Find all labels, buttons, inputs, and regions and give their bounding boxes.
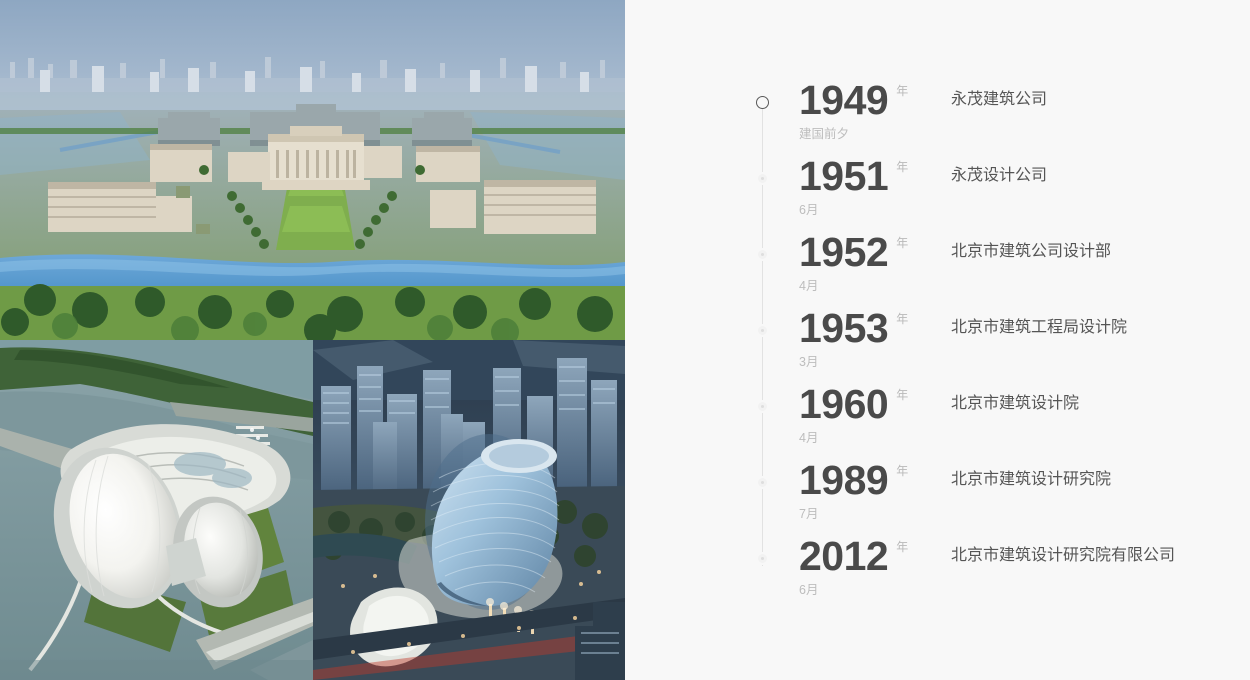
year-unit-label: 年 <box>896 462 908 479</box>
zhuhai-opera-house-aerial <box>0 340 313 680</box>
timeline-entry[interactable]: 1989 年 7月 北京市建筑设计研究院 <box>737 440 1250 516</box>
entry-description: 永茂建筑公司 <box>951 92 1047 108</box>
timeline-marker-dot-icon <box>758 326 767 335</box>
year-unit-label: 年 <box>896 82 908 99</box>
year-unit-label: 年 <box>896 386 908 403</box>
entry-description: 北京市建筑设计院 <box>951 396 1079 412</box>
year-value: 1960 <box>799 384 888 425</box>
timeline-entry[interactable]: 1953 年 3月 北京市建筑工程局设计院 <box>737 288 1250 364</box>
year-block: 1949 年 建国前夕 <box>799 60 951 141</box>
entry-description: 北京市建筑设计研究院 <box>951 472 1111 488</box>
year-value: 1952 <box>799 232 888 273</box>
timeline-entry[interactable]: 1960 年 4月 北京市建筑设计院 <box>737 364 1250 440</box>
year-block: 1951 年 6月 <box>799 136 951 217</box>
year-value: 1951 <box>799 156 888 197</box>
aerial-campus-rendering <box>0 0 625 340</box>
timeline-entry[interactable]: 2012 年 6月 北京市建筑设计研究院有限公司 <box>737 516 1250 592</box>
year-block: 1960 年 4月 <box>799 364 951 445</box>
year-unit-label: 年 <box>896 538 908 555</box>
year-block: 1989 年 7月 <box>799 440 951 521</box>
entry-description: 北京市建筑公司设计部 <box>951 244 1111 260</box>
timeline-marker-dot-icon <box>758 478 767 487</box>
year-value: 1989 <box>799 460 888 501</box>
year-block: 1953 年 3月 <box>799 288 951 369</box>
image-gallery <box>0 0 625 680</box>
history-timeline-page: 1949 年 建国前夕 永茂建筑公司 1951 年 6月 永茂设计公司 <box>0 0 1250 680</box>
timeline-marker-dot-icon <box>758 250 767 259</box>
timeline-marker-current-icon <box>756 96 769 109</box>
timeline-entry[interactable]: 1952 年 4月 北京市建筑公司设计部 <box>737 212 1250 288</box>
year-block: 2012 年 6月 <box>799 516 951 597</box>
year-value: 1949 <box>799 80 888 121</box>
timeline-marker-dot-icon <box>758 174 767 183</box>
elliptical-glass-tower-dusk <box>313 340 625 680</box>
year-value: 1953 <box>799 308 888 349</box>
entry-description: 永茂设计公司 <box>951 168 1047 184</box>
timeline-entry[interactable]: 1949 年 建国前夕 永茂建筑公司 <box>737 60 1250 136</box>
timeline-marker-dot-icon <box>758 554 767 563</box>
timeline-panel: 1949 年 建国前夕 永茂建筑公司 1951 年 6月 永茂设计公司 <box>625 0 1250 680</box>
entry-description: 北京市建筑工程局设计院 <box>951 320 1127 336</box>
timeline-marker-dot-icon <box>758 402 767 411</box>
year-block: 1952 年 4月 <box>799 212 951 293</box>
year-unit-label: 年 <box>896 310 908 327</box>
timeline-entry[interactable]: 1951 年 6月 永茂设计公司 <box>737 136 1250 212</box>
entry-description: 北京市建筑设计研究院有限公司 <box>951 548 1175 564</box>
year-value: 2012 <box>799 536 888 577</box>
history-timeline: 1949 年 建国前夕 永茂建筑公司 1951 年 6月 永茂设计公司 <box>737 60 1250 592</box>
year-sublabel: 6月 <box>799 584 951 597</box>
year-unit-label: 年 <box>896 234 908 251</box>
year-unit-label: 年 <box>896 158 908 175</box>
